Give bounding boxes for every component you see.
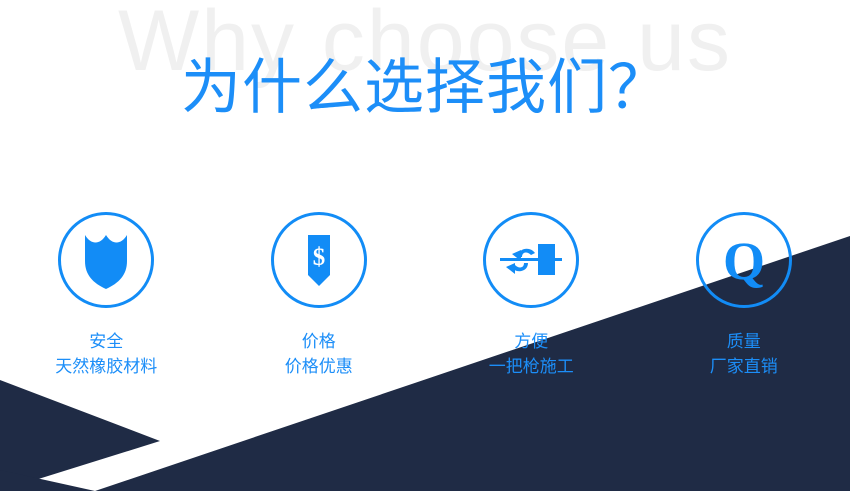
feature-labels-quality: 质量 厂家直销 — [710, 330, 778, 379]
feature-list: 安全 天然橡胶材料 $ 价格 价格优惠 — [0, 212, 850, 379]
feature-title: 质量 — [710, 330, 778, 355]
caulking-gun-icon — [498, 235, 564, 285]
price-icon-circle: $ — [271, 212, 367, 308]
svg-text:$: $ — [313, 244, 326, 271]
feature-subtitle: 一把枪施工 — [489, 355, 574, 380]
feature-labels-safety: 安全 天然橡胶材料 — [55, 330, 157, 379]
shield-icon-circle — [58, 212, 154, 308]
feature-subtitle: 天然橡胶材料 — [55, 355, 157, 380]
shield-icon — [76, 229, 136, 291]
feature-item-quality[interactable]: Q 质量 厂家直销 — [638, 212, 850, 379]
feature-title: 安全 — [55, 330, 157, 355]
convenience-icon-circle — [483, 212, 579, 308]
svg-text:Q: Q — [723, 231, 765, 291]
quality-q-icon: Q — [714, 229, 774, 291]
page-title: 为什么选择我们？ — [0, 58, 850, 118]
left-triangle-shape — [0, 380, 160, 491]
feature-item-price[interactable]: $ 价格 价格优惠 — [213, 212, 426, 379]
quality-icon-circle: Q — [696, 212, 792, 308]
why-choose-us-banner: Why choose us 为什么选择我们？ 安全 天然橡胶材料 $ — [0, 0, 850, 491]
bottom-left-sliver-shape — [0, 470, 95, 491]
feature-labels-price: 价格 价格优惠 — [285, 330, 353, 379]
feature-item-safety[interactable]: 安全 天然橡胶材料 — [0, 212, 213, 379]
feature-item-convenience[interactable]: 方便 一把枪施工 — [425, 212, 638, 379]
feature-subtitle: 厂家直销 — [710, 355, 778, 380]
feature-subtitle: 价格优惠 — [285, 355, 353, 380]
feature-labels-convenience: 方便 一把枪施工 — [489, 330, 574, 379]
feature-title: 方便 — [489, 330, 574, 355]
feature-title: 价格 — [285, 330, 353, 355]
price-tag-dollar-icon: $ — [289, 229, 349, 291]
